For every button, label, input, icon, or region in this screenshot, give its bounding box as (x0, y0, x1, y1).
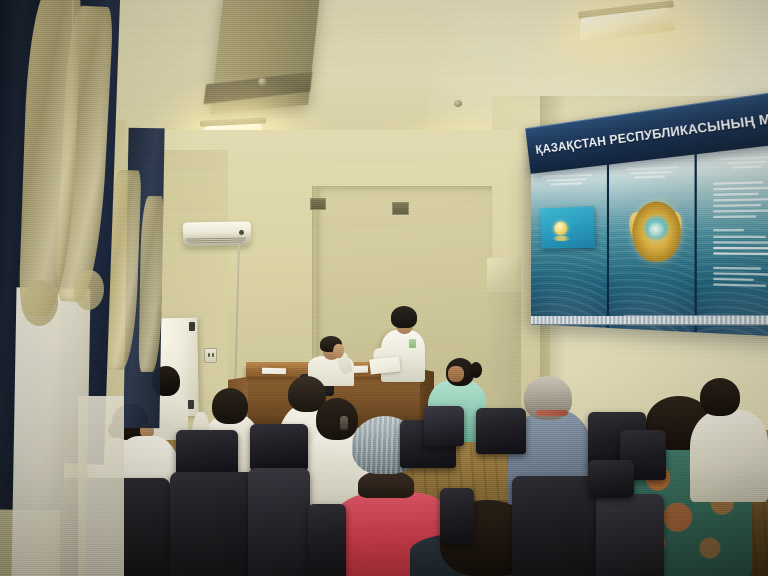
presenter-badge (409, 339, 416, 348)
attendee-hair-bun (470, 362, 482, 378)
attendee-head (316, 398, 358, 440)
outlet-slot (212, 353, 214, 357)
air-conditioner-led (239, 230, 244, 235)
chair[interactable] (250, 424, 308, 470)
chair[interactable] (476, 408, 526, 454)
chair[interactable] (596, 494, 664, 576)
attendee-head (700, 378, 740, 416)
attendee-face (448, 366, 464, 382)
board-bottom-trim (531, 315, 768, 325)
doorway-chamfer (487, 258, 521, 292)
kazakhstan-flag-icon (540, 206, 595, 249)
flag-sun-icon (554, 222, 567, 235)
chair[interactable] (588, 460, 634, 498)
outlet-slot (208, 353, 210, 357)
curtain-sheer (11, 287, 90, 576)
power-outlet-icon (204, 348, 217, 363)
paper-on-desk (262, 368, 286, 374)
chair[interactable] (248, 468, 310, 576)
attendee-head (212, 388, 248, 424)
ceiling-spotlight (454, 100, 462, 107)
attendee-hair-clip (340, 416, 348, 430)
chair[interactable] (424, 406, 464, 446)
flipchart-clip (188, 400, 194, 409)
emblem-shanyrak-icon (649, 223, 664, 238)
attendee-body (690, 410, 768, 502)
chair[interactable] (308, 504, 346, 576)
flag-eagle-icon (552, 236, 570, 241)
attendee-neck (358, 470, 414, 498)
attendee-collar (536, 410, 568, 416)
chair[interactable] (440, 488, 474, 544)
wall-vent (310, 198, 326, 210)
conference-room-photo: ҚАЗАҚСТАН РЕСПУБЛИКАСЫНЫҢ МЕМЛЕКЕТТІК РӘ… (0, 0, 768, 576)
air-conditioner-vent (186, 237, 246, 243)
presenter-hair (391, 306, 417, 328)
wall-vent (392, 202, 409, 215)
flipchart-clip (189, 322, 195, 331)
ceiling-spotlight (258, 78, 267, 86)
presenter-papers (369, 356, 400, 374)
anthem-panel (697, 139, 768, 338)
